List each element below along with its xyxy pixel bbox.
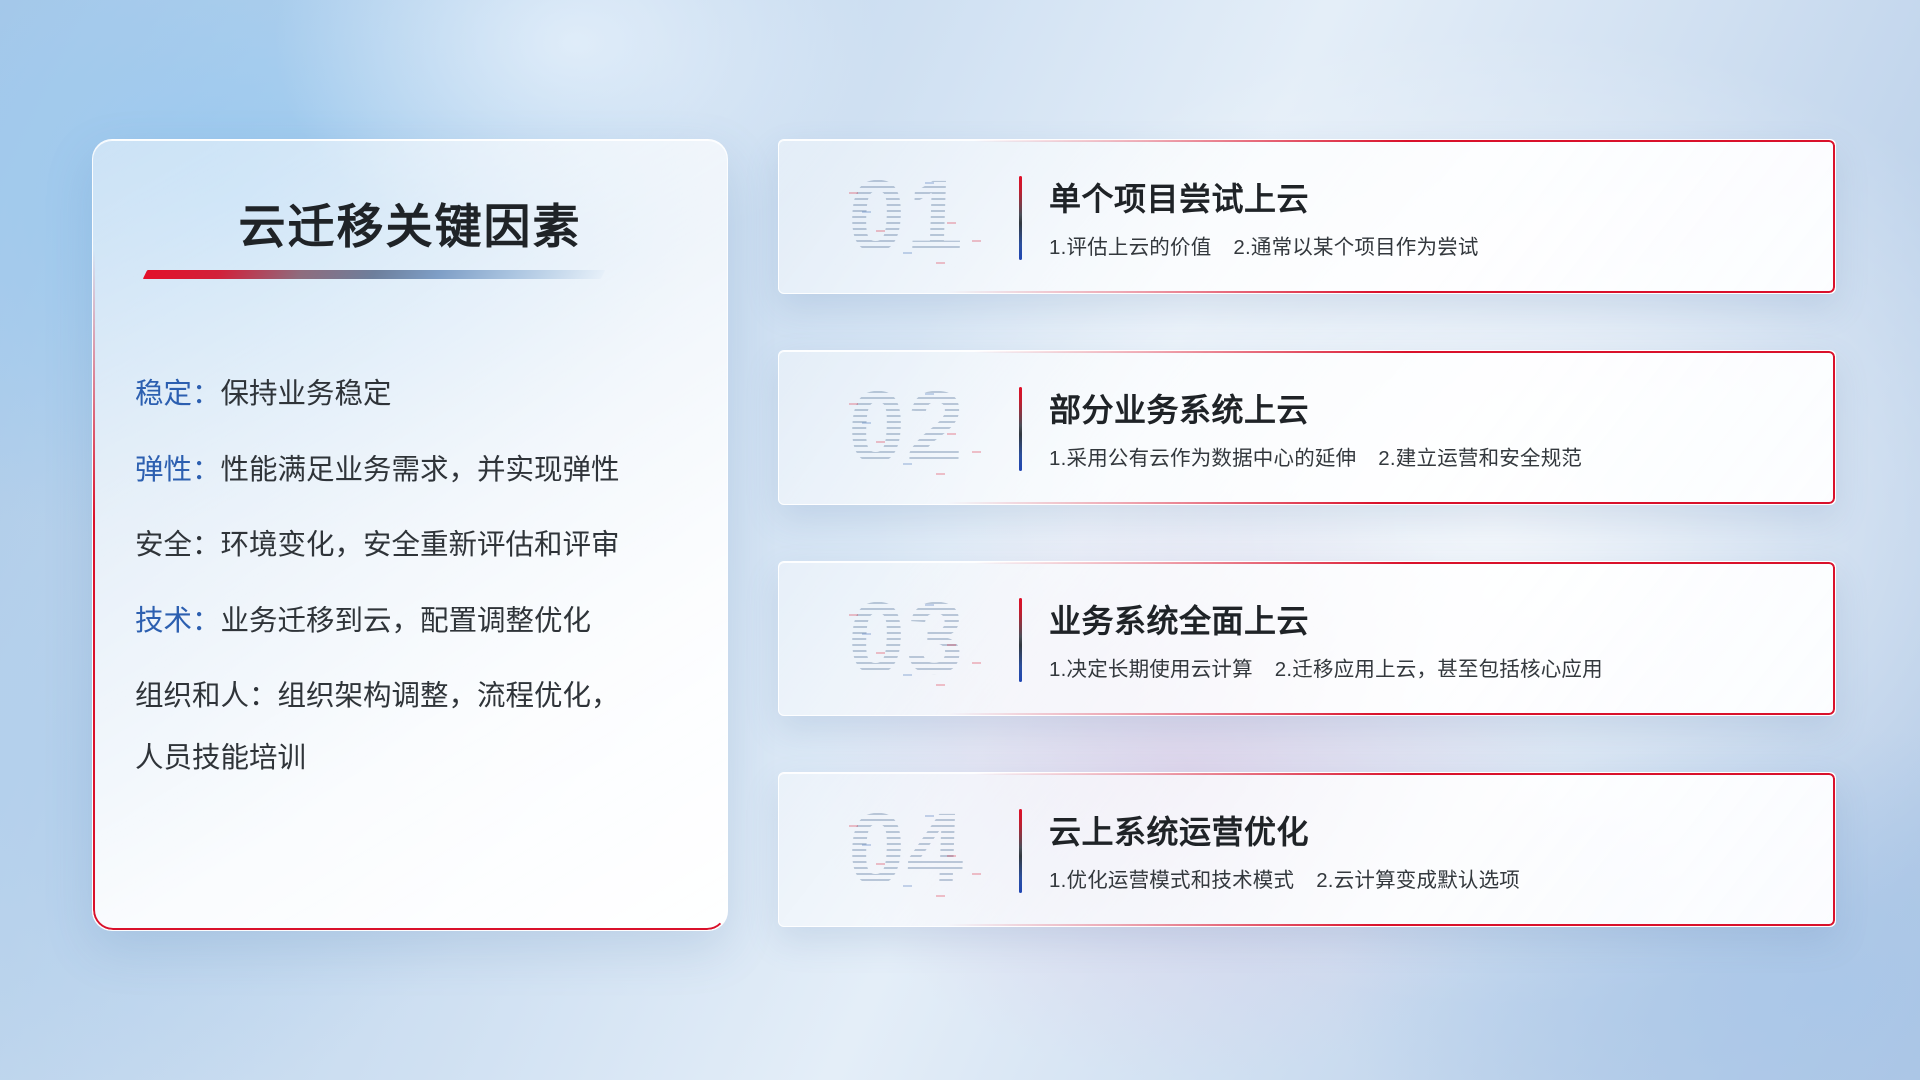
key-factor-text: 人员技能培训 — [135, 742, 306, 774]
card-description-item: 1.决定长期使用云计算 — [1049, 658, 1253, 681]
key-factor-text: 保持业务稳定 — [221, 378, 392, 410]
key-factor-row: 弹性：性能满足业务需求，并实现弹性 — [135, 452, 693, 490]
card-divider-line — [1019, 809, 1022, 893]
card-description-item: 2.建立运营和安全规范 — [1378, 447, 1582, 470]
stage-number-ghost: 04 — [815, 789, 999, 909]
key-factor-row: 安全：环境变化，安全重新评估和评审 — [135, 527, 693, 565]
key-factor-label: 技术： — [135, 605, 221, 637]
key-factor-row: 稳定：保持业务稳定 — [135, 376, 693, 414]
key-factor-text: 组织架构调整，流程优化， — [278, 680, 620, 712]
card-title: 部分业务系统上云 — [1049, 385, 1309, 431]
page-title: 云迁移关键因素 — [93, 188, 727, 257]
title-underline-gradient — [143, 270, 605, 279]
key-factor-row: 技术：业务迁移到云，配置调整优化 — [135, 603, 693, 641]
card-description: 1.优化运营模式和技术模式2.云计算变成默认选项 — [1049, 863, 1520, 893]
card-description-item: 1.优化运营模式和技术模式 — [1049, 869, 1294, 892]
key-factor-label: 稳定： — [135, 378, 221, 410]
card-description-item: 2.云计算变成默认选项 — [1316, 869, 1520, 892]
card-divider-line — [1019, 598, 1022, 682]
stage-number-ghost: 01 — [815, 156, 999, 276]
card-description-item: 1.评估上云的价值 — [1049, 236, 1211, 259]
card-description: 1.评估上云的价值2.通常以某个项目作为尝试 — [1049, 230, 1479, 260]
key-factors-list: 稳定：保持业务稳定弹性：性能满足业务需求，并实现弹性安全：环境变化，安全重新评估… — [135, 376, 693, 778]
key-factor-text: 业务迁移到云，配置调整优化 — [221, 605, 592, 637]
card-title: 业务系统全面上云 — [1049, 596, 1309, 642]
stage-card-02[interactable]: 02 部分业务系统上云 1.采用公有云作为数据中心的延伸2.建立运营和安全规范 — [778, 350, 1836, 505]
key-factor-text: 环境变化，安全重新评估和评审 — [221, 529, 620, 561]
card-title: 云上系统运营优化 — [1049, 807, 1309, 853]
key-factor-label: 弹性： — [135, 454, 221, 486]
card-description-item: 2.通常以某个项目作为尝试 — [1233, 236, 1478, 259]
card-description: 1.采用公有云作为数据中心的延伸2.建立运营和安全规范 — [1049, 441, 1582, 471]
card-description: 1.决定长期使用云计算2.迁移应用上云，甚至包括核心应用 — [1049, 652, 1603, 682]
key-factor-text: 性能满足业务需求，并实现弹性 — [221, 454, 620, 486]
stage-number-ghost: 02 — [815, 367, 999, 487]
stage-number-ghost: 03 — [815, 578, 999, 698]
card-description-item: 2.迁移应用上云，甚至包括核心应用 — [1275, 658, 1603, 681]
stage-card-04[interactable]: 04 云上系统运营优化 1.优化运营模式和技术模式2.云计算变成默认选项 — [778, 772, 1836, 927]
stage-card-01[interactable]: 01 单个项目尝试上云 1.评估上云的价值2.通常以某个项目作为尝试 — [778, 139, 1836, 294]
slide-stage: 云迁移关键因素 稳定：保持业务稳定弹性：性能满足业务需求，并实现弹性安全：环境变… — [0, 0, 1920, 1080]
key-factor-label: 安全： — [135, 529, 221, 561]
key-factor-label: 组织和人： — [135, 680, 278, 712]
card-description-item: 1.采用公有云作为数据中心的延伸 — [1049, 447, 1356, 470]
card-title: 单个项目尝试上云 — [1049, 174, 1309, 220]
key-factor-row: 人员技能培训 — [135, 740, 693, 778]
card-divider-line — [1019, 176, 1022, 260]
stage-card-03[interactable]: 03 业务系统全面上云 1.决定长期使用云计算2.迁移应用上云，甚至包括核心应用 — [778, 561, 1836, 716]
key-factors-panel: 云迁移关键因素 稳定：保持业务稳定弹性：性能满足业务需求，并实现弹性安全：环境变… — [92, 139, 728, 931]
key-factor-row: 组织和人：组织架构调整，流程优化， — [135, 678, 693, 716]
card-divider-line — [1019, 387, 1022, 471]
